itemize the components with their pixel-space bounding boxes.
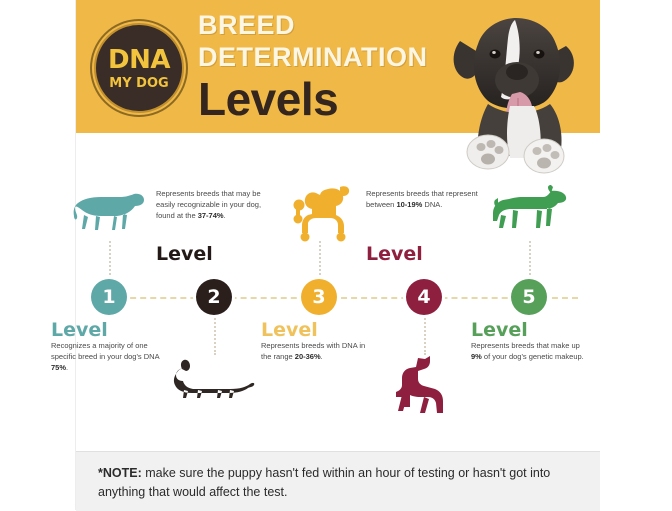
timeline-rail [100,297,578,299]
infographic-poster: DNA MY DOG BREED DETERMINATION Levels [0,0,672,510]
note-text: *NOTE: make sure the puppy hasn't fed wi… [98,464,584,502]
page-title: BREED DETERMINATION Levels [198,10,488,123]
note-body: make sure the puppy hasn't fed within an… [98,466,550,499]
level-description-2: Represents breeds that may be easily rec… [156,189,272,222]
level-description-4: Represents breeds that represent between… [366,189,482,211]
level-circle-1[interactable]: 1 [91,279,127,315]
dog-photo [448,6,598,178]
level-description-3-suffix: . [321,352,323,361]
connector-line-5 [529,241,531,279]
terrier-silhouette-icon [376,355,472,417]
logo-secondary-text: MY DOG [109,77,168,90]
level-description-5: Represents breeds that make up 9% of you… [471,341,587,363]
right-margin [599,0,672,510]
note-band: *NOTE: make sure the puppy hasn't fed wi… [76,451,600,511]
title-line-breed: BREED [198,10,488,42]
level-circle-2[interactable]: 2 [196,279,232,315]
level-description-3-value: 20-36% [295,352,321,361]
connector-line-4 [424,315,426,355]
level-word-1: Level [51,319,167,341]
basset-hound-silhouette-icon [166,355,262,399]
logo-primary-text: DNA [108,47,170,73]
dna-my-dog-logo: DNA MY DOG [94,23,184,113]
level-description-2-suffix: . [224,211,226,220]
level-description-4-value: 10-19% [396,200,422,209]
title-line-determination: DETERMINATION [198,42,488,74]
level-description-5-suffix: of your dog's genetic makeup. [482,352,584,361]
level-description-2-value: 37-74% [198,211,224,220]
level-description-1: Recognizes a majority of one specific br… [51,341,167,374]
level-description-5-value: 9% [471,352,482,361]
level-circle-4[interactable]: 4 [406,279,442,315]
level-description-3: Represents breeds with DNA in the range … [261,341,377,363]
poodle-silhouette-icon [271,185,367,249]
level-circle-5[interactable]: 5 [511,279,547,315]
level-description-5-prefix: Represents breeds that make up [471,341,580,350]
level-circle-3[interactable]: 3 [301,279,337,315]
title-line-levels: Levels [198,75,488,123]
level-description-4-suffix: DNA. [422,200,442,209]
connector-line-2 [214,315,216,355]
connector-line-1 [109,241,111,279]
left-margin [0,0,76,510]
note-label: *NOTE: [98,466,142,480]
level-word-3: Level [261,319,377,341]
level-word-2: Level [156,243,272,265]
levels-timeline: 1 Level Recognizes a majority of one spe… [76,133,600,451]
level-word-5: Level [471,319,587,341]
level-description-1-value: 75% [51,363,66,372]
retriever-silhouette-icon [61,185,157,233]
dachshund-silhouette-icon [481,185,577,229]
level-word-4: Level [366,243,482,265]
level-description-1-prefix: Recognizes a majority of one specific br… [51,341,159,361]
connector-line-3 [319,241,321,279]
level-description-1-suffix: . [66,363,68,372]
